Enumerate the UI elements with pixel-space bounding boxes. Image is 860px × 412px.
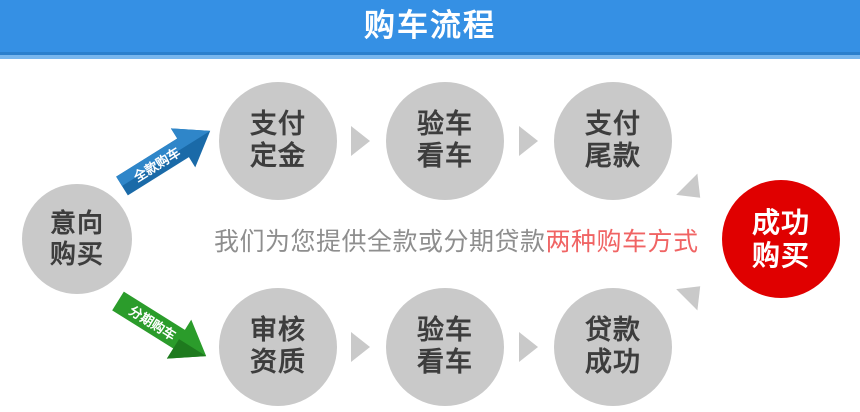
node-label-line2: 资质: [250, 347, 306, 379]
separator-chevron: [519, 332, 538, 362]
node-label-line2: 看车: [417, 347, 473, 379]
separator-chevron-to-success-bottom: [676, 276, 711, 311]
node-label-line1: 审核: [250, 315, 306, 347]
node-label-line2: 购买: [50, 239, 104, 270]
node-label-line2: 购买: [752, 239, 810, 272]
node-label-line1: 验车: [417, 315, 473, 347]
node-purchase-success[interactable]: 成功 购买: [722, 180, 840, 298]
caption-plain-text: 我们为您提供全款或分期贷款: [214, 228, 546, 256]
separator-chevron-to-success-top: [676, 174, 711, 209]
node-label-line1: 成功: [752, 206, 810, 239]
node-label-line2: 尾款: [585, 141, 641, 173]
separator-chevron: [351, 332, 370, 362]
node-label-line2: 成功: [585, 347, 641, 379]
node-pay-balance[interactable]: 支付 尾款: [554, 82, 672, 200]
node-label-line2: 定金: [250, 141, 306, 173]
node-label-line1: 支付: [585, 109, 641, 141]
node-label-line1: 验车: [417, 109, 473, 141]
node-label-line1: 意向: [50, 208, 104, 239]
node-label-line1: 贷款: [585, 315, 641, 347]
caption-accent-text: 两种购车方式: [546, 228, 699, 256]
full-payment-arrow[interactable]: 全款购车: [110, 111, 223, 205]
node-review-qualification[interactable]: 审核 资质: [219, 288, 337, 406]
node-label-line2: 看车: [417, 141, 473, 173]
banner-rule-light: [0, 55, 860, 59]
node-loan-approved[interactable]: 贷款 成功: [554, 288, 672, 406]
header-banner: 购车流程: [0, 0, 860, 52]
node-label-line1: 支付: [250, 109, 306, 141]
page-title: 购车流程: [0, 0, 860, 52]
installment-arrow[interactable]: 分期购车: [106, 281, 219, 375]
center-caption: 我们为您提供全款或分期贷款两种购车方式: [214, 222, 699, 258]
node-inspect-car-bottom[interactable]: 验车 看车: [386, 288, 504, 406]
node-intent-to-buy[interactable]: 意向 购买: [22, 184, 132, 294]
separator-chevron: [351, 126, 370, 156]
node-pay-deposit[interactable]: 支付 定金: [219, 82, 337, 200]
buying-process-infographic: 购车流程 意向 购买 全款购车 分期购车 支付 定金 验车 看车 支付 尾款: [0, 0, 860, 412]
node-inspect-car-top[interactable]: 验车 看车: [386, 82, 504, 200]
separator-chevron: [519, 126, 538, 156]
